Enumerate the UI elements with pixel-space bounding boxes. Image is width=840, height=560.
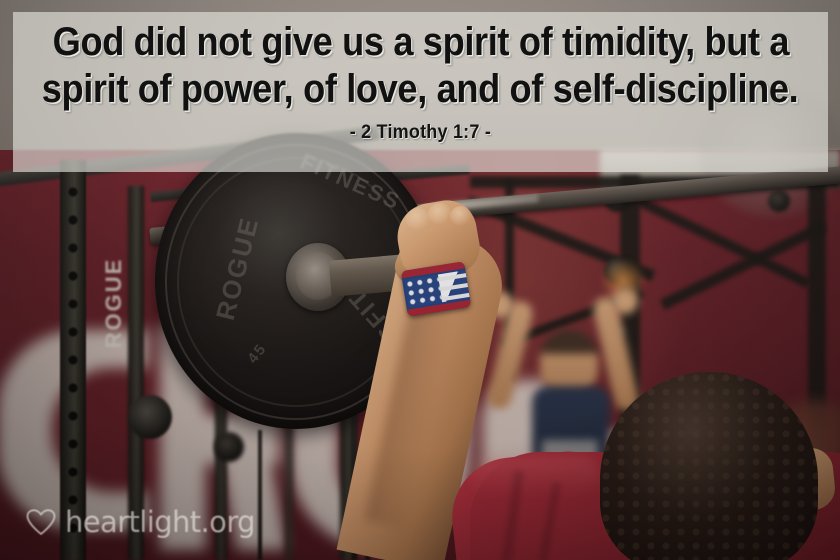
- background-athlete-head: [540, 330, 598, 394]
- rack-upright-second: [128, 186, 144, 560]
- shirt-highlight: [470, 456, 600, 496]
- rack-hole-pattern: [66, 185, 80, 550]
- rig-knob: [768, 190, 790, 212]
- scripture-image: ROGUE ROGUE FITNESS CROSSFIT 45: [0, 0, 840, 560]
- subject-knuckle: [450, 206, 472, 226]
- subject-knuckle: [428, 203, 452, 225]
- verse-line-1: God did not give us a spirit of timidity…: [52, 19, 789, 66]
- heart-icon: [26, 509, 56, 536]
- rack-brand-label: ROGUE: [101, 233, 127, 373]
- verse-reference: - 2 Timothy 1:7 -: [350, 122, 491, 144]
- rack-pulley-secondary: [214, 432, 244, 462]
- verse-text-block: God did not give us a spirit of timidity…: [13, 12, 828, 172]
- subject-knuckle: [406, 208, 430, 230]
- hanging-strap: [258, 430, 262, 560]
- watermark-text: heartlight.org: [65, 508, 255, 537]
- verse-line-2: spirit of power, of love, and of self-di…: [42, 66, 799, 113]
- rack-pulley: [128, 395, 172, 439]
- background-athlete-hand-right: [612, 288, 638, 314]
- watermark[interactable]: heartlight.org: [26, 508, 255, 537]
